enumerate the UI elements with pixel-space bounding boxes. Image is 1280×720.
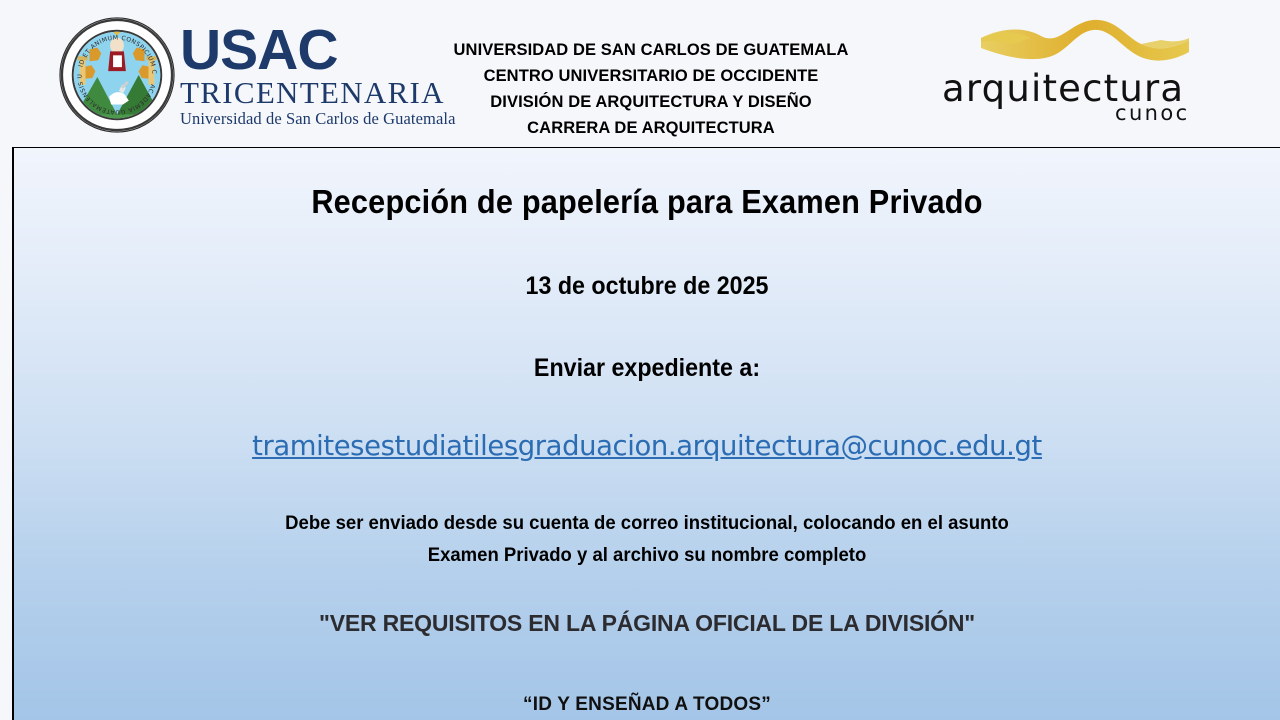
email-link[interactable]: tramitesestudiatilesgraduacion.arquitect… bbox=[27, 429, 1268, 462]
institution-line-4: CARRERA DE ARQUITECTURA bbox=[390, 116, 912, 142]
university-motto: “ID Y ENSEÑAD A TODOS” bbox=[14, 694, 1280, 716]
event-date: 13 de octubre de 2025 bbox=[58, 272, 1235, 301]
send-label: Enviar expediente a: bbox=[58, 354, 1235, 383]
institution-line-1: UNIVERSIDAD DE SAN CARLOS DE GUATEMALA bbox=[390, 38, 912, 64]
arquitectura-unit-label: cunoc bbox=[1115, 103, 1190, 124]
requirements-note: "VER REQUISITOS EN LA PÁGINA OFICIAL DE … bbox=[14, 610, 1280, 637]
slide-header: ID ET ANIMUM CONSPICIUM CAROLINA ACADEMI… bbox=[0, 0, 1280, 147]
announcement-panel: Recepción de papelería para Examen Priva… bbox=[12, 146, 1280, 720]
arquitectura-logo-lockup: arquitectura cunoc bbox=[930, 8, 1220, 133]
instructions-block: Debe ser enviado desde su cuenta de corr… bbox=[46, 508, 1249, 571]
instructions-line-1: Debe ser enviado desde su cuenta de corr… bbox=[46, 508, 1249, 540]
institution-line-2: CENTRO UNIVERSITARIO DE OCCIDENTE bbox=[390, 64, 912, 90]
usac-seal-icon: ID ET ANIMUM CONSPICIUM CAROLINA ACADEMI… bbox=[58, 16, 176, 134]
arquitectura-swoosh-icon bbox=[975, 14, 1205, 70]
institution-line-3: DIVISIÓN DE ARQUITECTURA Y DISEÑO bbox=[390, 90, 912, 116]
institution-heading: UNIVERSIDAD DE SAN CARLOS DE GUATEMALA C… bbox=[390, 38, 912, 142]
page-title: Recepción de papelería para Examen Priva… bbox=[58, 183, 1235, 221]
instructions-line-2: Examen Privado y al archivo su nombre co… bbox=[46, 540, 1249, 572]
slide-canvas: ID ET ANIMUM CONSPICIUM CAROLINA ACADEMI… bbox=[0, 0, 1280, 720]
